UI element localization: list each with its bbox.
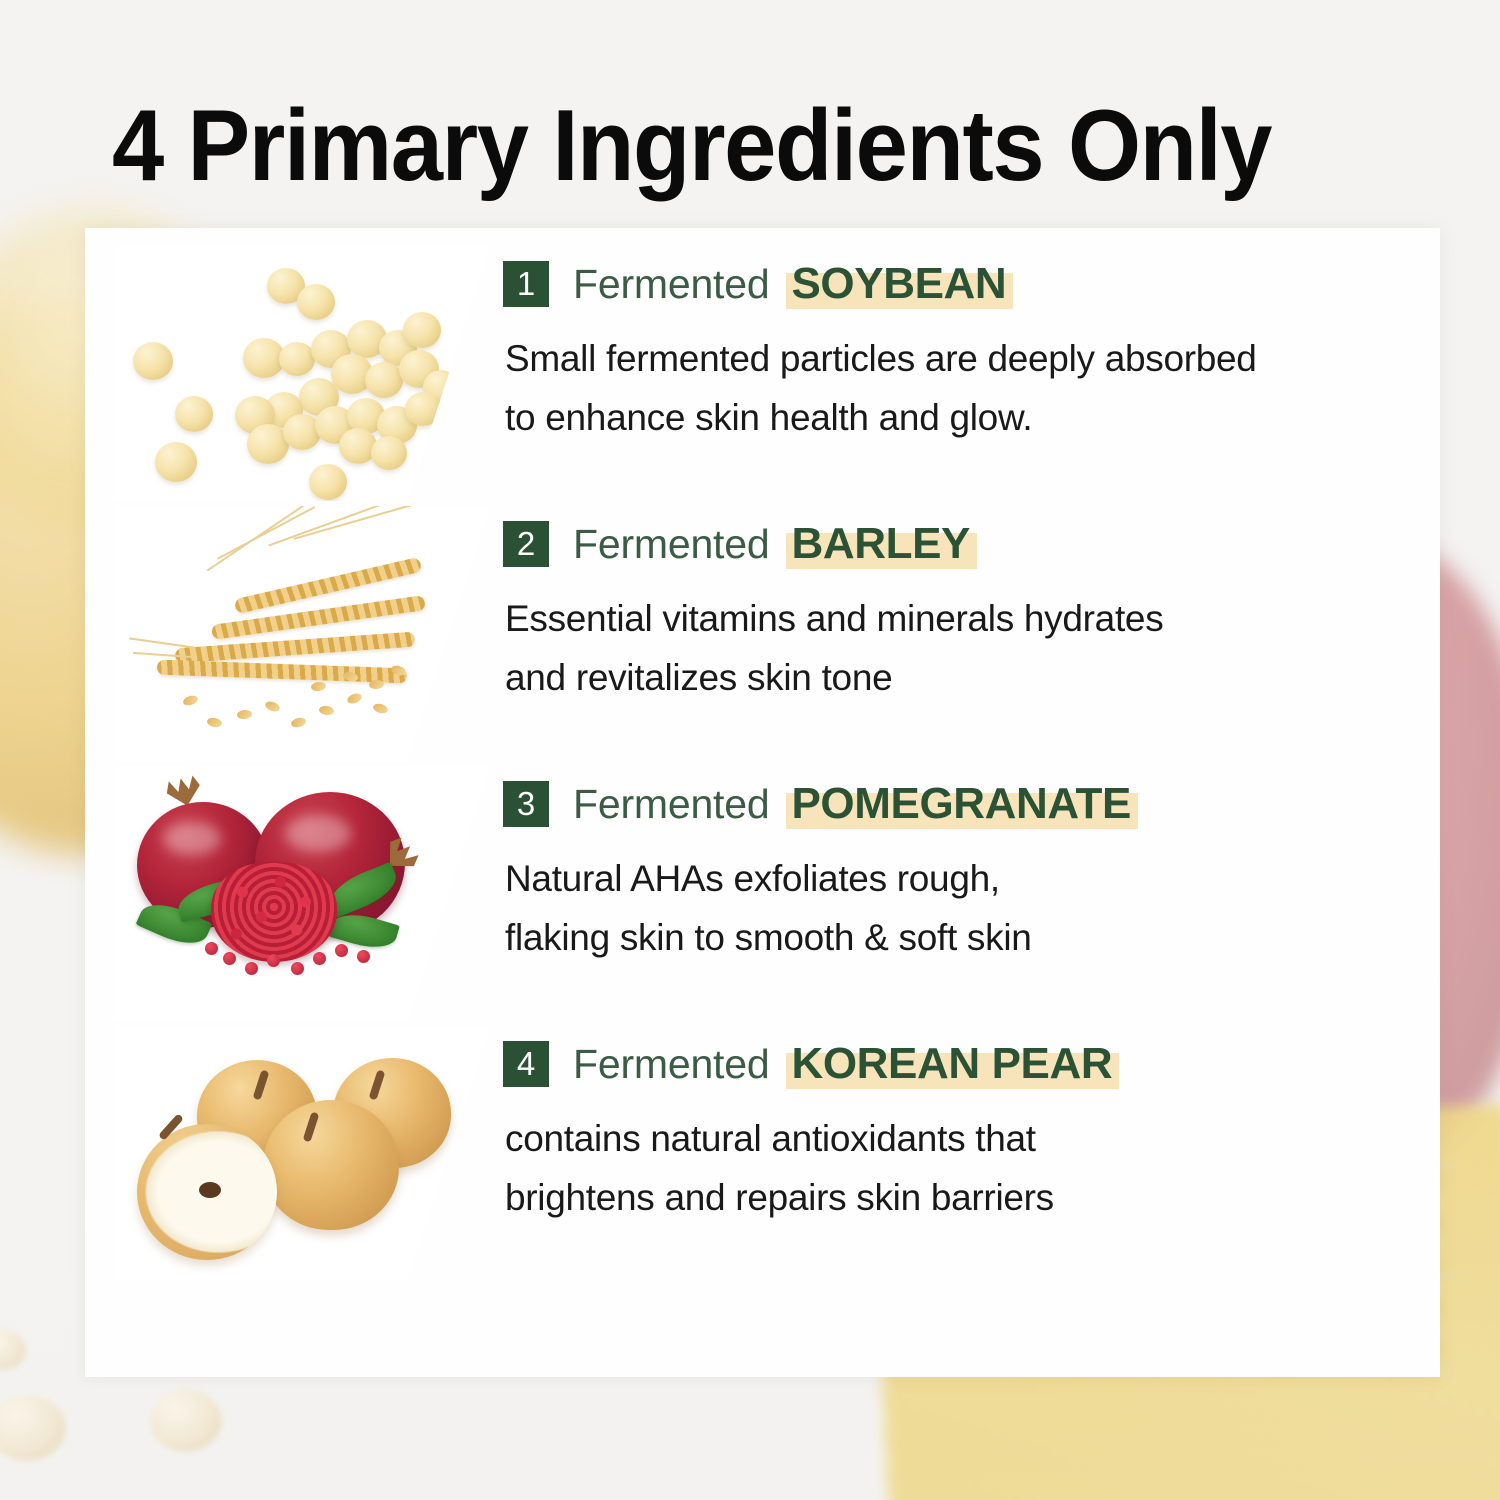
ingredient-description: Small fermented particles are deeply abs… — [505, 329, 1257, 447]
description-line-2: to enhance skin health and glow. — [505, 388, 1257, 447]
ingredients-card: 1 Fermented SOYBEAN Small fermented part… — [85, 228, 1440, 1377]
ingredient-row-pomegranate: 3 Fermented POMEGRANATE Natural AHAs exf… — [85, 766, 1440, 1026]
ingredient-description: contains natural antioxidants that brigh… — [505, 1109, 1054, 1227]
ingredient-prefix: Fermented — [573, 781, 769, 827]
ingredient-name: BARLEY — [791, 520, 970, 568]
ingredient-heading: 4 Fermented KOREAN PEAR — [503, 1040, 1112, 1088]
ingredient-prefix: Fermented — [573, 521, 769, 567]
ingredient-name: POMEGRANATE — [791, 780, 1130, 828]
ingredient-number-badge: 3 — [503, 781, 549, 827]
description-line-1: Essential vitamins and minerals hydrates — [505, 589, 1163, 648]
ingredient-description: Natural AHAs exfoliates rough, flaking s… — [505, 849, 1032, 967]
description-line-1: Natural AHAs exfoliates rough, — [505, 849, 1032, 908]
ingredient-heading: 2 Fermented BARLEY — [503, 520, 970, 568]
pomegranate-photo — [115, 766, 490, 1021]
ingredient-heading: 1 Fermented SOYBEAN — [503, 260, 1006, 308]
ingredient-row-korean-pear: 4 Fermented KOREAN PEAR contains natural… — [85, 1026, 1440, 1286]
description-line-2: brightens and repairs skin barriers — [505, 1168, 1054, 1227]
ingredient-row-barley: 2 Fermented BARLEY Essential vitamins an… — [85, 506, 1440, 766]
ingredient-number-badge: 1 — [503, 261, 549, 307]
soybeans-photo — [115, 246, 490, 501]
ingredient-description: Essential vitamins and minerals hydrates… — [505, 589, 1163, 707]
korean-pear-photo — [115, 1026, 490, 1281]
description-line-2: flaking skin to smooth & soft skin — [505, 908, 1032, 967]
description-line-1: Small fermented particles are deeply abs… — [505, 329, 1257, 388]
barley-photo — [115, 506, 490, 761]
ingredient-prefix: Fermented — [573, 261, 769, 307]
ingredient-number-badge: 4 — [503, 1041, 549, 1087]
ingredient-number-badge: 2 — [503, 521, 549, 567]
ingredient-name: KOREAN PEAR — [791, 1040, 1112, 1088]
page-title: 4 Primary Ingredients Only — [112, 92, 1321, 202]
ingredient-row-soybean: 1 Fermented SOYBEAN Small fermented part… — [85, 246, 1440, 506]
ingredient-prefix: Fermented — [573, 1041, 769, 1087]
ingredient-name: SOYBEAN — [791, 260, 1006, 308]
description-line-2: and revitalizes skin tone — [505, 648, 1163, 707]
ingredient-heading: 3 Fermented POMEGRANATE — [503, 780, 1131, 828]
description-line-1: contains natural antioxidants that — [505, 1109, 1054, 1168]
